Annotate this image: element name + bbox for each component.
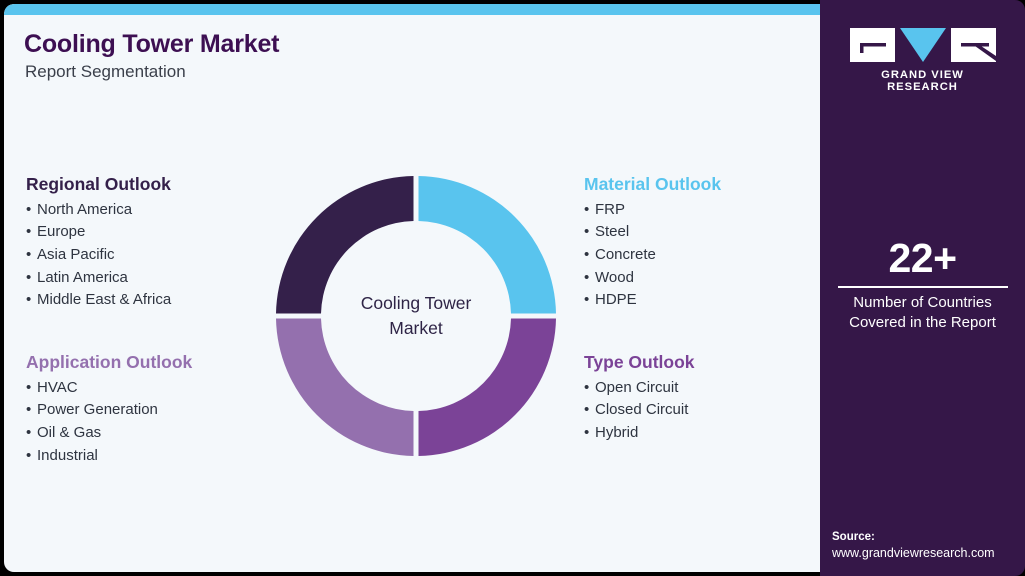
- outlook-list-application: •HVAC •Power Generation •Oil & Gas •Indu…: [26, 377, 192, 467]
- outlook-block-type: Type Outlook •Open Circuit •Closed Circu…: [584, 352, 695, 445]
- list-item-label: Oil & Gas: [37, 424, 101, 441]
- stat-number: 22+: [834, 236, 1012, 280]
- stat-caption-line-2: Covered in the Report: [834, 313, 1012, 333]
- outlook-heading-type: Type Outlook: [584, 352, 695, 374]
- list-item-label: Concrete: [595, 246, 656, 263]
- list-item-label: HDPE: [595, 291, 637, 308]
- list-item: •Steel: [584, 221, 721, 244]
- list-item-label: North America: [37, 201, 132, 218]
- content-panel: Cooling Tower Market Report Segmentation…: [4, 4, 820, 572]
- donut-segment-application: [276, 319, 414, 457]
- list-item: •Middle East & Africa: [26, 289, 171, 312]
- bullet-icon: •: [584, 399, 595, 422]
- list-item-label: Closed Circuit: [595, 401, 688, 418]
- list-item-label: Open Circuit: [595, 379, 678, 396]
- list-item: •Power Generation: [26, 399, 192, 422]
- donut-segment-type: [419, 319, 557, 457]
- outlook-heading-regional: Regional Outlook: [26, 174, 171, 196]
- bullet-icon: •: [584, 199, 595, 222]
- list-item-label: FRP: [595, 201, 625, 218]
- outlook-heading-material: Material Outlook: [584, 174, 721, 196]
- logo-r-icon: [951, 28, 996, 62]
- bullet-icon: •: [26, 267, 37, 290]
- donut-svg: [272, 172, 560, 460]
- bullet-icon: •: [26, 221, 37, 244]
- outlook-list-type: •Open Circuit •Closed Circuit •Hybrid: [584, 377, 695, 445]
- outlook-list-material: •FRP •Steel •Concrete •Wood •HDPE: [584, 199, 721, 312]
- list-item: •Latin America: [26, 267, 171, 290]
- logo-v-icon: [900, 28, 946, 62]
- list-item-label: Latin America: [37, 269, 128, 286]
- source-label: Source:: [832, 529, 1022, 545]
- bullet-icon: •: [26, 199, 37, 222]
- bullet-icon: •: [26, 289, 37, 312]
- list-item: •North America: [26, 199, 171, 222]
- gvr-logo: GRAND VIEW RESEARCH: [850, 28, 996, 93]
- page-subtitle: Report Segmentation: [25, 62, 186, 82]
- page-title: Cooling Tower Market: [24, 30, 279, 59]
- brand-panel: GRAND VIEW RESEARCH 22+ Number of Countr…: [820, 0, 1025, 576]
- logo-g-icon: [850, 28, 895, 62]
- outlook-block-material: Material Outlook •FRP •Steel •Concrete •…: [584, 174, 721, 312]
- list-item-label: Hybrid: [595, 424, 638, 441]
- infographic-root: Cooling Tower Market Report Segmentation…: [0, 0, 1025, 576]
- outlook-list-regional: •North America •Europe •Asia Pacific •La…: [26, 199, 171, 312]
- list-item-label: HVAC: [37, 379, 78, 396]
- gvr-wordmark: GRAND VIEW RESEARCH: [850, 69, 996, 93]
- list-item: •Wood: [584, 267, 721, 290]
- list-item-label: Middle East & Africa: [37, 291, 171, 308]
- outlook-heading-application: Application Outlook: [26, 352, 192, 374]
- list-item: •Closed Circuit: [584, 399, 695, 422]
- bullet-icon: •: [26, 244, 37, 267]
- bullet-icon: •: [26, 445, 37, 468]
- source-footer: Source: www.grandviewresearch.com: [832, 529, 1022, 562]
- outlook-block-regional: Regional Outlook •North America •Europe …: [26, 174, 171, 312]
- gvr-logo-marks: [850, 28, 996, 62]
- bullet-icon: •: [584, 289, 595, 312]
- source-url[interactable]: www.grandviewresearch.com: [832, 545, 1022, 562]
- stat-caption: Number of Countries Covered in the Repor…: [834, 293, 1012, 333]
- donut-segment-regional: [276, 176, 414, 314]
- list-item: •HVAC: [26, 377, 192, 400]
- list-item-label: Power Generation: [37, 401, 158, 418]
- list-item-label: Steel: [595, 223, 629, 240]
- bullet-icon: •: [584, 221, 595, 244]
- list-item: •HDPE: [584, 289, 721, 312]
- list-item: •Industrial: [26, 445, 192, 468]
- bullet-icon: •: [584, 377, 595, 400]
- list-item-label: Asia Pacific: [37, 246, 115, 263]
- list-item: •Hybrid: [584, 422, 695, 445]
- bullet-icon: •: [26, 422, 37, 445]
- list-item-label: Industrial: [37, 447, 98, 464]
- gvr-logo-svg: [850, 28, 996, 62]
- list-item: •Oil & Gas: [26, 422, 192, 445]
- bullet-icon: •: [26, 399, 37, 422]
- bullet-icon: •: [584, 422, 595, 445]
- countries-stat: 22+ Number of Countries Covered in the R…: [834, 236, 1012, 333]
- list-item: •Open Circuit: [584, 377, 695, 400]
- list-item-label: Europe: [37, 223, 85, 240]
- donut-segment-material: [419, 176, 557, 314]
- list-item: •Europe: [26, 221, 171, 244]
- segmentation-donut-chart: Cooling Tower Market: [272, 172, 560, 460]
- list-item: •Asia Pacific: [26, 244, 171, 267]
- list-item: •Concrete: [584, 244, 721, 267]
- stat-divider: [838, 286, 1008, 288]
- outlook-block-application: Application Outlook •HVAC •Power Generat…: [26, 352, 192, 467]
- list-item-label: Wood: [595, 269, 634, 286]
- accent-bar: [4, 4, 820, 15]
- bullet-icon: •: [26, 377, 37, 400]
- list-item: •FRP: [584, 199, 721, 222]
- bullet-icon: •: [584, 267, 595, 290]
- stat-caption-line-1: Number of Countries: [834, 293, 1012, 313]
- bullet-icon: •: [584, 244, 595, 267]
